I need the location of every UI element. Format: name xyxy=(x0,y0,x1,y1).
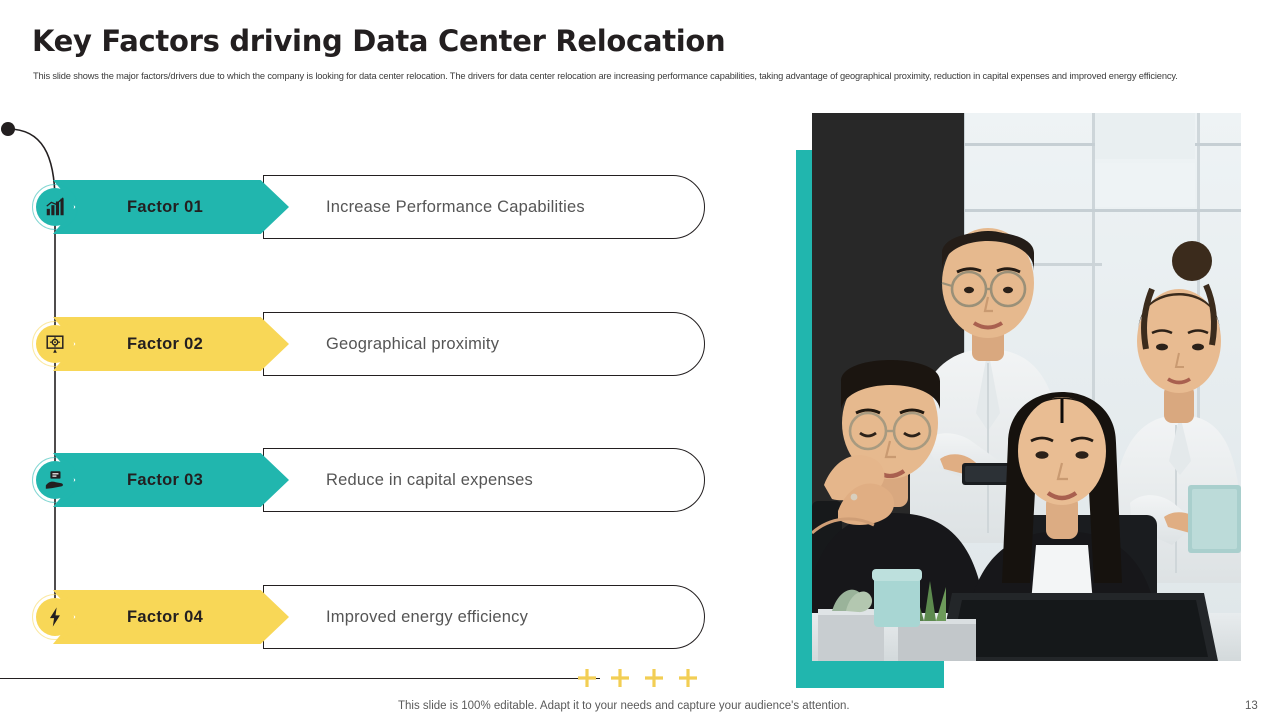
hand-money-icon xyxy=(44,469,66,491)
factor-description-box: Reduce in capital expenses xyxy=(263,448,705,512)
factor-description: Geographical proximity xyxy=(326,335,499,354)
factor-label: Factor 02 xyxy=(127,335,203,354)
factor-banner: Factor 02 xyxy=(53,317,289,371)
factor-description: Increase Performance Capabilities xyxy=(326,198,585,217)
factor-list: Increase Performance Capabilities Factor… xyxy=(0,0,760,720)
icon-disc xyxy=(36,188,74,226)
footer-note: This slide is 100% editable. Adapt it to… xyxy=(398,700,850,712)
factor-icon-badge xyxy=(32,184,78,230)
factor-description: Improved energy efficiency xyxy=(326,608,528,627)
icon-disc xyxy=(36,325,74,363)
factor-label: Factor 01 xyxy=(127,198,203,217)
factor-row[interactable]: Increase Performance Capabilities Factor… xyxy=(0,171,760,241)
slide: Key Factors driving Data Center Relocati… xyxy=(0,0,1280,720)
bar-chart-icon xyxy=(44,196,66,218)
factor-label: Factor 04 xyxy=(127,608,203,627)
icon-disc xyxy=(36,598,74,636)
location-target-icon xyxy=(44,333,66,355)
team-photo xyxy=(812,113,1241,661)
factor-banner: Factor 03 xyxy=(53,453,289,507)
factor-banner: Factor 04 xyxy=(53,590,289,644)
factor-row[interactable]: Geographical proximity Factor 02 xyxy=(0,308,760,378)
plus-decoration-group xyxy=(578,666,706,692)
page-number: 13 xyxy=(1245,700,1258,712)
factor-description-box: Increase Performance Capabilities xyxy=(263,175,705,239)
photo-zone xyxy=(796,113,1248,688)
factor-label: Factor 03 xyxy=(127,471,203,490)
lightning-bolt-icon xyxy=(44,606,66,628)
factor-icon-badge xyxy=(32,594,78,640)
factor-row[interactable]: Reduce in capital expenses Factor 03 xyxy=(0,444,760,514)
factor-description-box: Geographical proximity xyxy=(263,312,705,376)
factor-icon-badge xyxy=(32,321,78,367)
factor-description: Reduce in capital expenses xyxy=(326,471,533,490)
factor-description-box: Improved energy efficiency xyxy=(263,585,705,649)
factor-icon-badge xyxy=(32,457,78,503)
factor-row[interactable]: Improved energy efficiency Factor 04 xyxy=(0,581,760,651)
icon-disc xyxy=(36,461,74,499)
bottom-divider xyxy=(0,678,600,679)
factor-banner: Factor 01 xyxy=(53,180,289,234)
